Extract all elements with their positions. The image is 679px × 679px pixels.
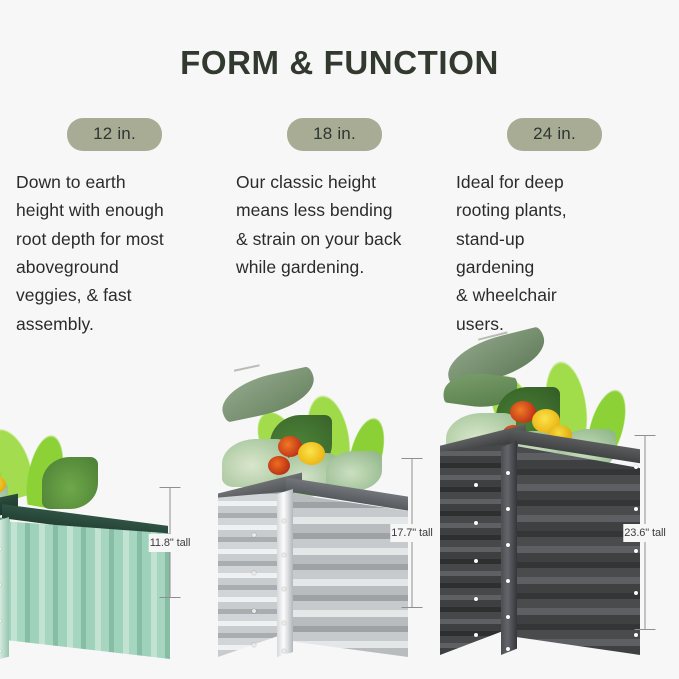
planter-box-silver: [218, 467, 408, 659]
planter-box-charcoal: [440, 421, 640, 659]
dimension-cap-top: [402, 458, 423, 459]
product-images: [0, 0, 679, 679]
rivet-icon: [474, 597, 478, 601]
dimension-annotation-green: 11.8" tall: [147, 487, 193, 598]
dimension-cap-top: [160, 487, 181, 488]
rivet-icon: [506, 615, 510, 619]
dimension-label-green: 11.8" tall: [149, 534, 192, 552]
rivet-icon: [252, 571, 256, 575]
rivet-icon: [282, 553, 286, 557]
dimension-cap-top: [635, 435, 656, 436]
rivet-icon: [474, 559, 478, 563]
plant-stem-icon: [234, 364, 260, 371]
rivet-icon: [474, 633, 478, 637]
rivet-icon: [252, 533, 256, 537]
dimension-label-charcoal: 23.6" tall: [623, 524, 666, 542]
dimension-cap-bottom: [635, 629, 656, 630]
rivet-icon: [506, 579, 510, 583]
rivet-icon: [474, 483, 478, 487]
planter-front-panel: [2, 521, 170, 659]
rivet-icon: [506, 543, 510, 547]
product-photo-charcoal: [440, 314, 640, 659]
dimension-cap-bottom: [160, 597, 181, 598]
planter-front-panel: [510, 445, 640, 655]
planter-corner-post: [277, 489, 293, 657]
rivet-icon: [474, 521, 478, 525]
rivet-icon: [252, 643, 256, 647]
rivet-icon: [506, 507, 510, 511]
dimension-label-silver: 17.7" tall: [390, 524, 433, 542]
infographic-canvas: FORM & FUNCTION 12 in. Down to earth hei…: [0, 0, 679, 679]
dimension-annotation-charcoal: 23.6" tall: [622, 435, 668, 630]
rivet-icon: [634, 633, 638, 637]
rivet-icon: [252, 609, 256, 613]
rivet-icon: [282, 649, 286, 653]
rivet-icon: [506, 471, 510, 475]
rivet-icon: [506, 647, 510, 651]
dimension-annotation-silver: 17.7" tall: [389, 458, 435, 608]
rivet-icon: [282, 519, 286, 523]
rivet-icon: [282, 587, 286, 591]
product-photo-silver: [218, 359, 408, 659]
dimension-cap-bottom: [402, 607, 423, 608]
rivet-icon: [282, 621, 286, 625]
planter-corner-post: [0, 517, 9, 661]
